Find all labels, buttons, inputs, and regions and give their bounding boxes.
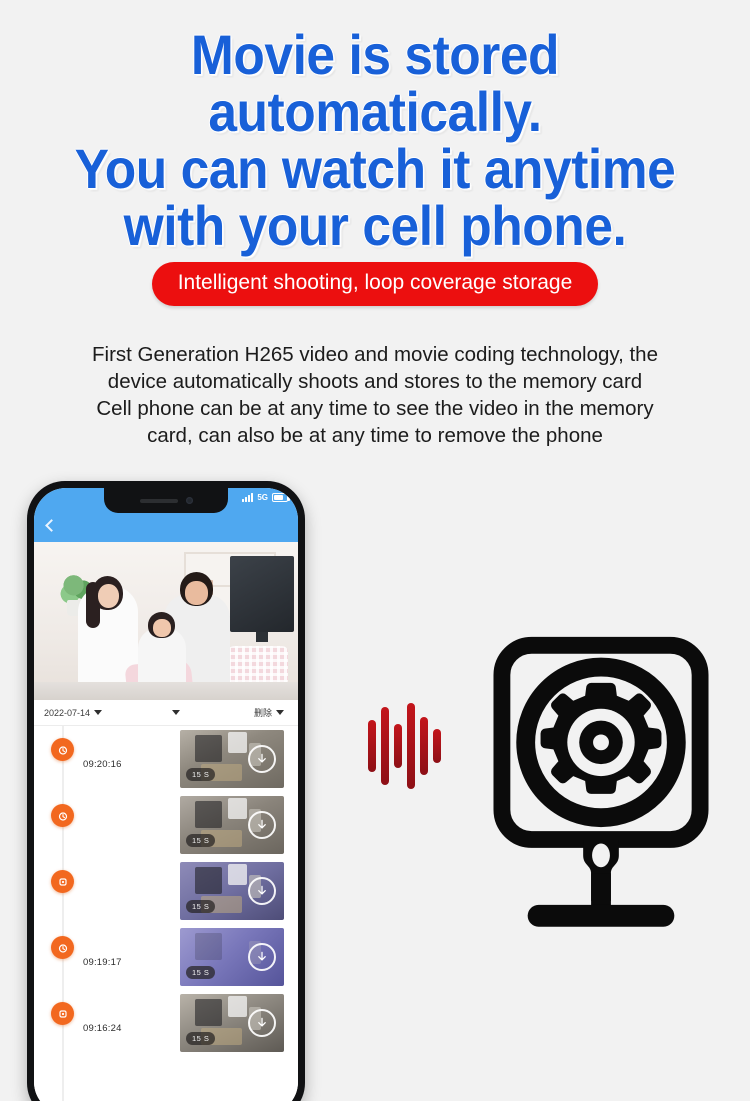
download-icon[interactable] [248, 877, 276, 905]
waveform-bar [420, 717, 428, 775]
recording-thumbnail[interactable]: 15 S [180, 862, 284, 920]
body-line-2: device automatically shoots and stores t… [20, 368, 730, 395]
alarm-icon [51, 936, 74, 959]
motion-icon [51, 1002, 74, 1025]
delete-label: 删除 [254, 706, 272, 719]
live-view-image[interactable] [34, 542, 298, 700]
headline-line-1: Movie is stored automatically. [30, 26, 720, 140]
tagline-container: Intelligent shooting, loop coverage stor… [0, 262, 750, 306]
promo-page: Movie is stored automatically. You can w… [0, 0, 750, 1101]
waveform-bar [368, 720, 376, 772]
recording-time: 09:20:16 [83, 759, 122, 770]
recording-time: 09:16:24 [83, 1023, 122, 1034]
list-item[interactable]: 09:19:17 15 S [34, 924, 298, 990]
chevron-down-icon [172, 710, 180, 715]
recording-thumbnail[interactable]: 15 S [180, 796, 284, 854]
body-line-4: card, can also be at any time to remove … [20, 422, 730, 449]
body-line-3: Cell phone can be at any time to see the… [20, 395, 730, 422]
headline-line-2: You can watch it anytime [30, 140, 720, 197]
waveform-bar [407, 703, 415, 789]
recording-thumbnail[interactable]: 15 S [180, 928, 284, 986]
phone-notch [104, 488, 228, 513]
date-value: 2022-07-14 [44, 708, 90, 718]
recording-thumbnail[interactable]: 15 S [180, 994, 284, 1052]
audio-waveform-icon [368, 700, 456, 792]
download-icon[interactable] [248, 943, 276, 971]
status-badge: Intelligent shooting, loop coverage stor… [152, 262, 599, 306]
battery-icon [272, 493, 288, 502]
recording-timeline[interactable]: 09:20:16 15 S [34, 726, 298, 1101]
list-item[interactable]: 15 S [34, 858, 298, 924]
earpiece-speaker-icon [140, 499, 178, 503]
network-label: 5G [257, 493, 268, 502]
download-icon[interactable] [248, 745, 276, 773]
phone-mockup: 5G 20 [27, 481, 305, 1101]
duration-badge: 15 S [186, 1032, 215, 1045]
description-text: First Generation H265 video and movie co… [20, 341, 730, 449]
page-title: Movie is stored automatically. You can w… [0, 26, 750, 254]
list-item[interactable]: 15 S [34, 792, 298, 858]
filter-dropdown[interactable] [168, 710, 180, 715]
alarm-icon [51, 804, 74, 827]
waveform-bar [381, 707, 389, 785]
delete-dropdown[interactable]: 删除 [254, 706, 284, 719]
download-icon[interactable] [248, 1009, 276, 1037]
chevron-down-icon [276, 710, 284, 715]
front-camera-icon [186, 497, 193, 504]
alarm-icon [51, 738, 74, 761]
back-chevron-icon[interactable] [45, 519, 58, 532]
duration-badge: 15 S [186, 768, 215, 781]
webcam-icon [492, 634, 710, 934]
motion-icon [51, 870, 74, 893]
recording-time: 09:19:17 [83, 957, 122, 968]
list-item[interactable]: 09:20:16 15 S [34, 726, 298, 792]
duration-badge: 15 S [186, 900, 215, 913]
filter-toolbar: 2022-07-14 删除 [34, 700, 298, 726]
duration-badge: 15 S [186, 834, 215, 847]
chevron-down-icon [94, 710, 102, 715]
phone-screen: 5G 20 [34, 488, 298, 1101]
waveform-bar [394, 724, 402, 768]
signal-bars-icon [242, 493, 253, 502]
headline-line-3: with your cell phone. [30, 197, 720, 254]
duration-badge: 15 S [186, 966, 215, 979]
download-icon[interactable] [248, 811, 276, 839]
body-line-1: First Generation H265 video and movie co… [20, 341, 730, 368]
recording-thumbnail[interactable]: 15 S [180, 730, 284, 788]
list-item[interactable]: 09:16:24 15 S [34, 990, 298, 1056]
status-bar: 5G [242, 493, 288, 502]
waveform-bar [433, 729, 441, 763]
date-picker[interactable]: 2022-07-14 [44, 708, 102, 718]
